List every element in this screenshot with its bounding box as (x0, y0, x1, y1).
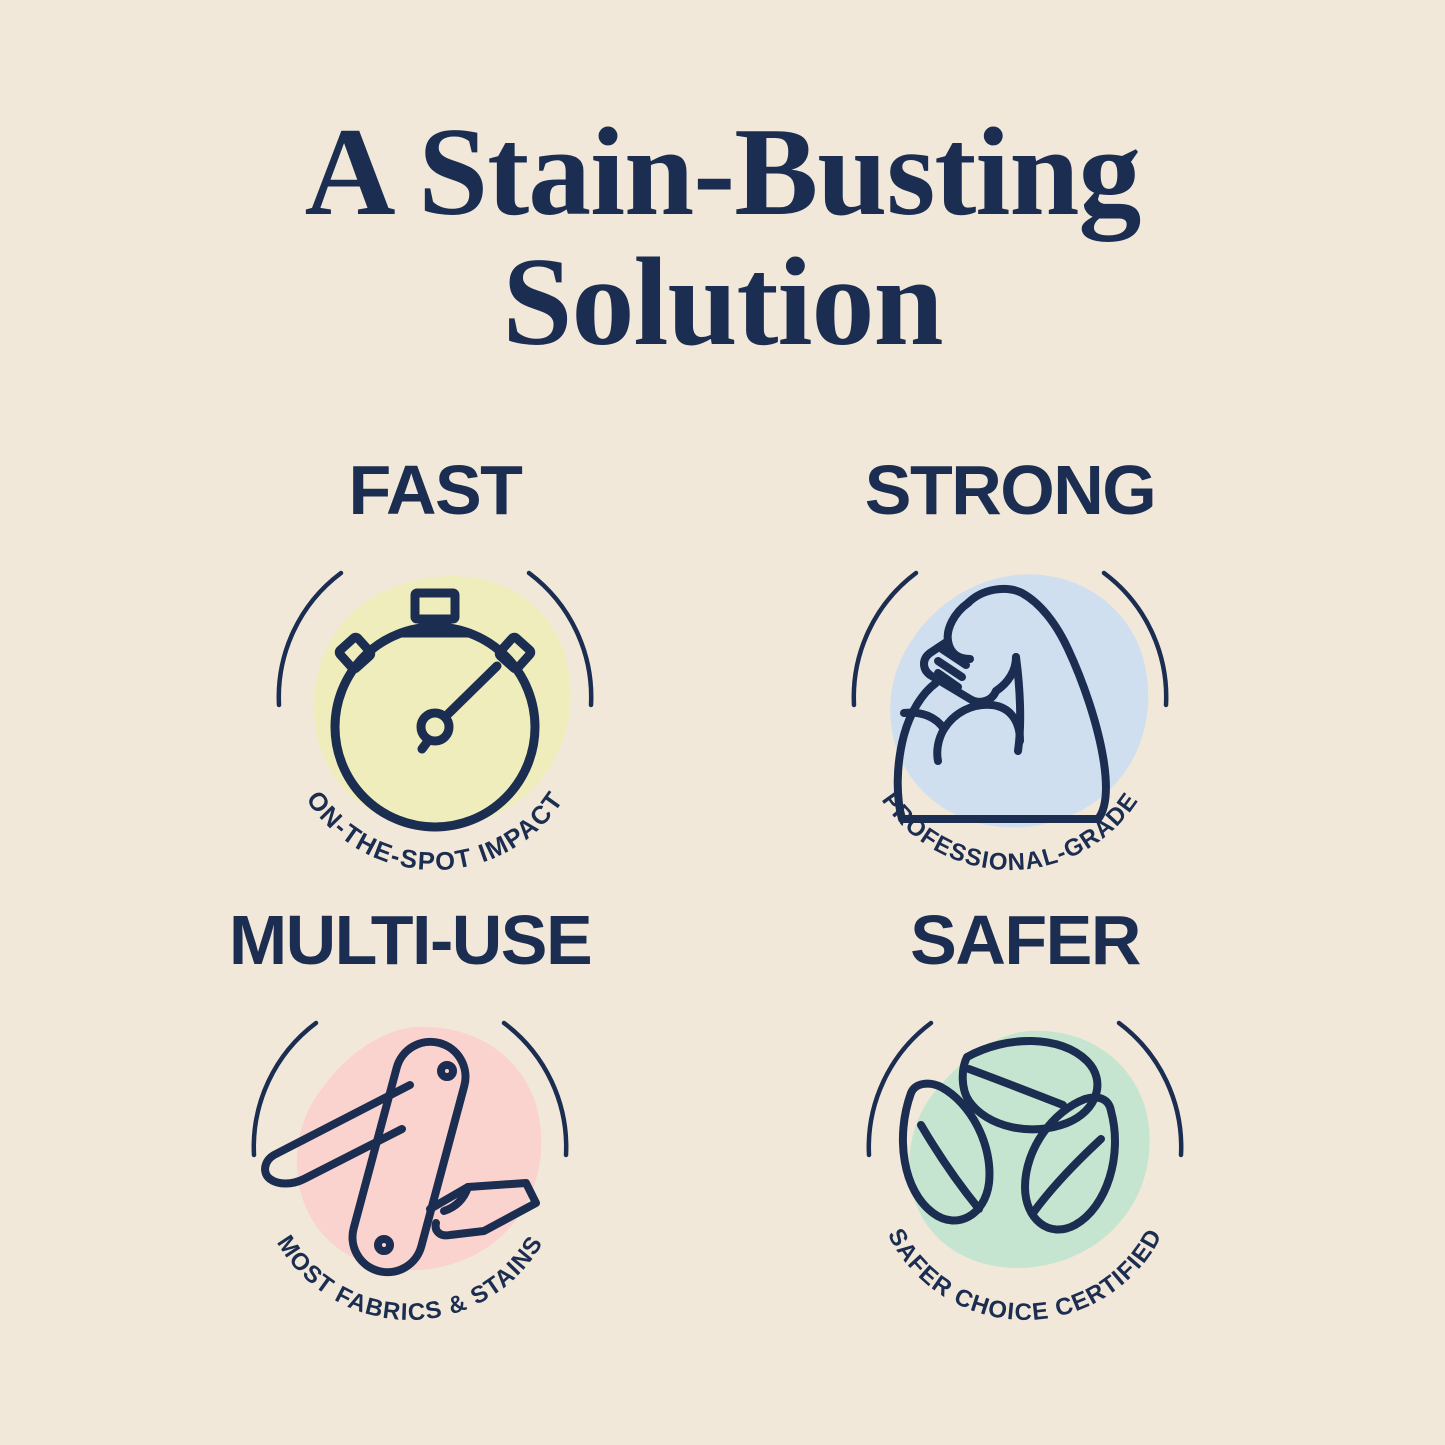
benefit-badge-grid: FAST (0, 455, 1445, 1405)
stain-busting-solution-graphic: A Stain-Busting Solution FAST (0, 0, 1445, 1445)
badge-multi-use: MULTI-USE (175, 905, 645, 1345)
badge-fast-heading: FAST (200, 455, 670, 525)
badge-multi-use-heading: MULTI-USE (175, 905, 645, 975)
badge-safer-ring: SAFER CHOICE CERTIFIED (845, 987, 1205, 1347)
badge-safer-heading: SAFER (790, 905, 1260, 975)
badge-strong-heading: STRONG (775, 455, 1245, 525)
page-title-line-2: Solution (0, 238, 1445, 368)
badge-multi-use-blob (297, 1027, 542, 1271)
page-title-line-1: A Stain-Busting (0, 108, 1445, 238)
badge-strong: STRONG (775, 455, 1245, 895)
badge-multi-use-ring: MOST FABRICS & STAINS (230, 987, 590, 1347)
page-title: A Stain-Busting Solution (0, 108, 1445, 368)
badge-fast: FAST (200, 455, 670, 895)
badge-fast-ring: ON-THE-SPOT IMPACT (255, 537, 615, 897)
badge-strong-ring: PROFESSIONAL-GRADE (830, 537, 1190, 897)
badge-safer: SAFER (790, 905, 1260, 1345)
